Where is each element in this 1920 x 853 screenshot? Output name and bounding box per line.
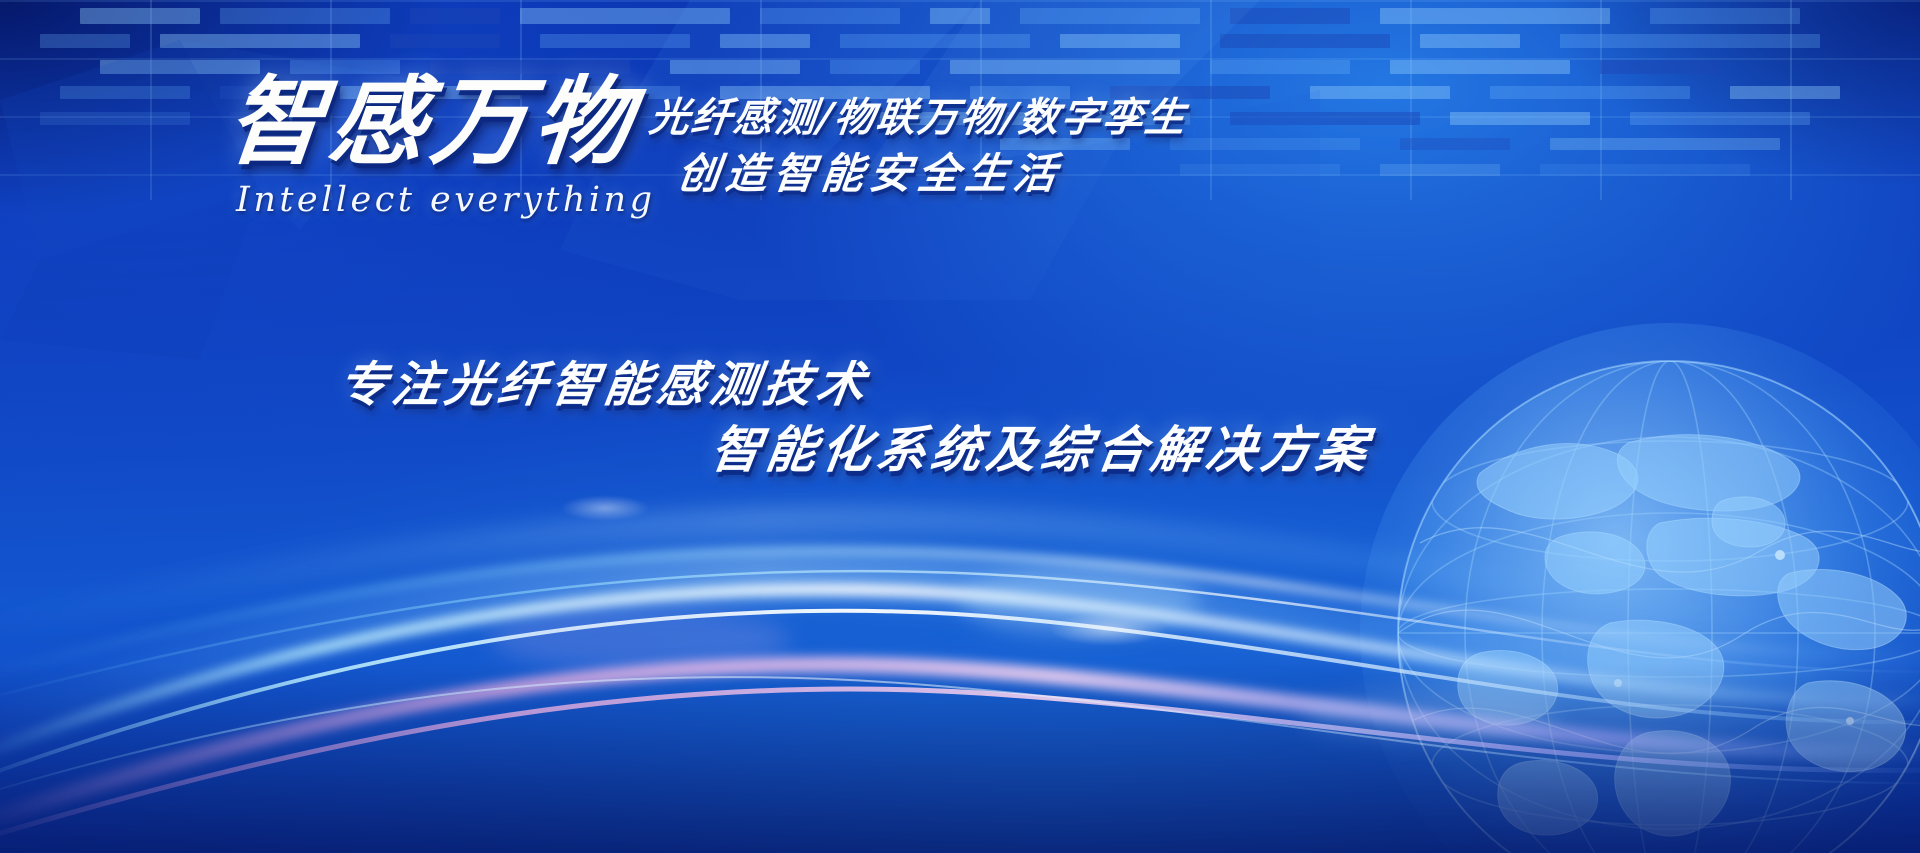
lens-flare-icon (560, 495, 650, 521)
light-ribbon-graphic (0, 433, 1920, 853)
lens-flare-icon-2 (1048, 612, 1168, 646)
page-subtitle-en: Intellect everything (236, 180, 656, 220)
subline-1: 专注光纤智能感测技术 (335, 345, 875, 415)
subline-2: 智能化系统及综合解决方案 (707, 410, 1377, 482)
tagline-line-2: 创造智能安全生活 (674, 140, 1066, 201)
tagline-line-1: 光纤感测/物联万物/数字孪生 (646, 85, 1190, 143)
page-title: 智感万物 (223, 74, 641, 170)
banner-hero: 智感万物 Intellect everything 光纤感测/物联万物/数字孪生… (0, 0, 1920, 853)
